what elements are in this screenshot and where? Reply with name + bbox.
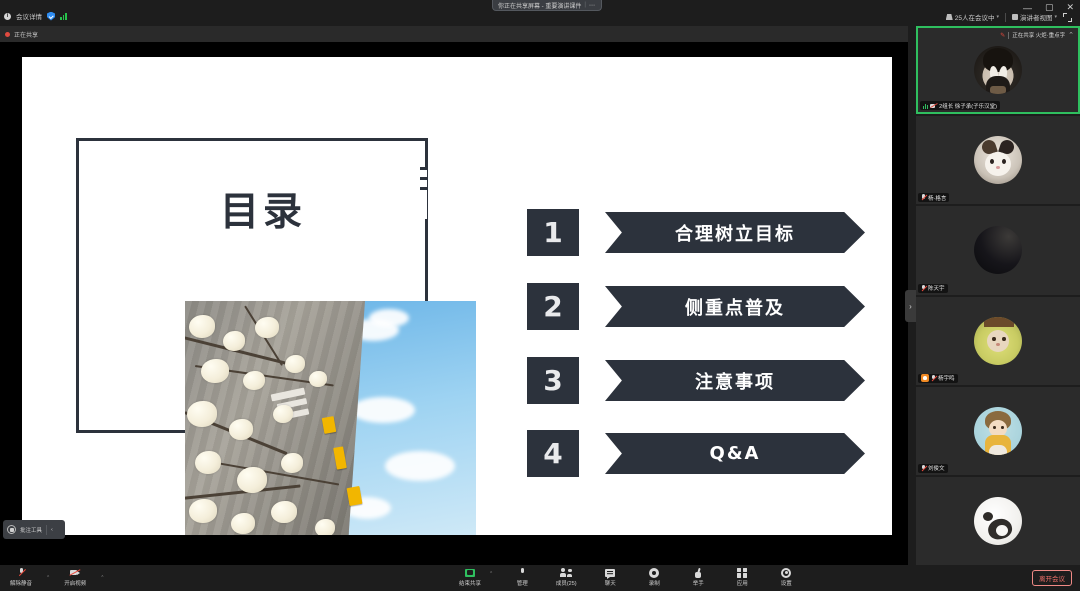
record-label: 录制 <box>649 579 660 587</box>
agenda-item: 4 Q&A <box>527 430 863 477</box>
members-label: 成员(25) <box>556 579 577 587</box>
camera-toggle-label: 开启视频 <box>64 579 86 587</box>
apps-icon <box>737 567 747 578</box>
record-button[interactable]: 录制 <box>639 567 669 587</box>
bottom-left-tools[interactable]: 解除静音 ⌃ 开启视频 ⌃ <box>6 567 104 587</box>
shared-screen-stage[interactable]: 正在共享 目录 <box>0 26 908 565</box>
agenda-label: Q&A <box>605 433 865 474</box>
share-banner-text: 你正在共享屏幕 - 重要演讲课件 <box>498 1 581 10</box>
agenda-number: 1 <box>527 209 579 256</box>
tile-annotation-bar: ✎ 正在共享 火炬·重点字 ⌃ <box>1000 31 1074 39</box>
share-options-chevron-icon[interactable]: ⌃ <box>489 571 493 577</box>
banner-divider: | <box>584 2 586 8</box>
chevron-down-icon[interactable]: ▾ <box>1054 14 1057 20</box>
participant-tile[interactable]: ✎ 正在共享 火炬·重点字 ⌃ 2组长 徐子承(子乐汉堂) <box>916 26 1080 114</box>
raise-hand-button[interactable]: 举手 <box>683 567 713 587</box>
agenda-label: 侧重点普及 <box>605 286 865 327</box>
people-icon <box>946 14 953 20</box>
view-controls-group[interactable]: 25人在会议中 ▾ 演讲者视图 ▾ <box>946 12 1072 22</box>
stop-share-label: 结束共享 <box>459 579 481 587</box>
mic-muted-icon <box>19 567 24 578</box>
meeting-info-group[interactable]: i 会议详情 <box>4 11 67 21</box>
speaking-indicator-icon <box>923 103 928 109</box>
agenda-item: 3 注意事项 <box>527 357 863 404</box>
annotate-label: 批注工具 <box>20 526 42 534</box>
camera-toggle-button[interactable]: 开启视频 <box>60 567 90 587</box>
mic-toggle-button[interactable]: 解除静音 <box>6 567 36 587</box>
leave-meeting-button[interactable]: 离开会议 <box>1032 570 1072 586</box>
settings-gear-icon <box>781 567 791 578</box>
participant-tile[interactable]: 陈天宇 <box>916 206 1080 294</box>
participant-name-badge: 陈天宇 <box>918 284 948 293</box>
apps-label: 应用 <box>737 579 748 587</box>
agenda-number: 3 <box>527 357 579 404</box>
stage-status-label: 正在共享 <box>14 30 38 39</box>
top-system-bar: 你正在共享屏幕 - 重要演讲课件 | ⋯ i 会议详情 — ▢ ✕ 25人在会议… <box>0 0 1080 26</box>
participant-name-badge: 杨宇鸣 <box>918 374 958 383</box>
chat-button[interactable]: 聊天 <box>595 567 625 587</box>
chevron-left-icon[interactable]: ‹ <box>51 527 53 533</box>
participant-name-badge: 刘俊文 <box>918 464 948 473</box>
manage-members-icon <box>520 567 525 578</box>
raise-hand-icon <box>694 567 703 578</box>
agenda-number: 4 <box>527 430 579 477</box>
participant-tile[interactable]: 杨·格言 <box>916 116 1080 204</box>
mic-toggle-label: 解除静音 <box>10 579 32 587</box>
avatar <box>974 407 1022 455</box>
record-icon <box>649 567 659 578</box>
avatar <box>974 136 1022 184</box>
participant-filmstrip[interactable]: ✎ 正在共享 火炬·重点字 ⌃ 2组长 徐子承(子乐汉堂) <box>916 26 1080 565</box>
apps-button[interactable]: 应用 <box>727 567 757 587</box>
mic-muted-icon <box>921 465 926 472</box>
layout-label: 演讲者视图 <box>1020 12 1053 22</box>
avatar <box>974 497 1022 545</box>
avatar <box>974 46 1022 94</box>
participant-tile[interactable]: 刘俊文 <box>916 387 1080 475</box>
annotate-icon[interactable] <box>7 525 16 534</box>
screen-share-icon <box>465 567 475 578</box>
agenda-label: 注意事项 <box>605 360 865 401</box>
participant-count-button[interactable]: 25人在会议中 ▾ <box>946 12 999 22</box>
stage-status-strip: 正在共享 <box>0 26 908 42</box>
pen-icon: ✎ <box>1000 32 1005 39</box>
layout-icon <box>1012 14 1018 20</box>
avatar <box>974 317 1022 365</box>
meeting-info-label: 会议详情 <box>16 11 42 21</box>
participant-name: 杨·格言 <box>928 194 946 202</box>
host-badge-icon <box>921 374 929 382</box>
filmstrip-collapse-handle[interactable]: › <box>905 290 916 322</box>
mic-muted-icon <box>921 194 926 201</box>
manage-members-button[interactable]: 管理 <box>507 567 537 587</box>
raise-hand-label: 举手 <box>693 579 704 587</box>
record-dot-icon <box>5 32 10 37</box>
annotation-toolbar[interactable]: 批注工具 ‹ <box>3 520 65 539</box>
chat-label: 聊天 <box>605 579 616 587</box>
agenda-number: 2 <box>527 283 579 330</box>
camera-muted-icon <box>70 567 80 578</box>
participant-name: 陈天宇 <box>928 284 945 292</box>
slide-title: 目录 <box>220 181 306 237</box>
bottom-toolbar[interactable]: 解除静音 ⌃ 开启视频 ⌃ 结束共享 ⌃ 管理 成员(25) <box>0 565 1080 591</box>
participant-name: 2组长 徐子承(子乐汉堂) <box>939 102 997 110</box>
participant-count-label: 25人在会议中 <box>955 12 995 22</box>
bottom-center-tools[interactable]: 结束共享 ⌃ 管理 成员(25) 聊天 录制 举手 <box>455 567 801 587</box>
signal-bars-icon[interactable] <box>60 12 67 20</box>
manage-label: 管理 <box>517 579 528 587</box>
toolbar-divider <box>1005 13 1006 22</box>
fullscreen-icon[interactable] <box>1063 13 1072 22</box>
frame-notch-decoration <box>420 167 427 219</box>
tile-annotation-text: 正在共享 火炬·重点字 <box>1012 31 1065 39</box>
members-button[interactable]: 成员(25) <box>551 567 581 587</box>
layout-button[interactable]: 演讲者视图 ▾ <box>1012 12 1057 22</box>
members-icon <box>561 567 572 578</box>
shield-icon[interactable] <box>47 12 55 21</box>
chevron-down-icon[interactable]: ▾ <box>996 14 999 20</box>
settings-label: 设置 <box>781 579 792 587</box>
participant-name: 杨宇鸣 <box>938 374 955 382</box>
participant-name: 刘俊文 <box>928 464 945 472</box>
presentation-slide: 目录 <box>22 57 892 535</box>
agenda-label: 合理树立目标 <box>605 212 865 253</box>
info-icon[interactable]: i <box>4 13 11 20</box>
annotate-divider <box>46 525 47 535</box>
agenda-item: 2 侧重点普及 <box>527 283 863 330</box>
minimize-button[interactable]: — <box>1023 3 1032 13</box>
participant-tile[interactable] <box>916 477 1080 565</box>
agenda-item: 1 合理树立目标 <box>527 209 863 256</box>
camera-options-chevron-icon[interactable]: ⌃ <box>100 575 104 581</box>
avatar <box>974 226 1022 274</box>
chevron-up-icon[interactable]: ⌃ <box>1068 31 1074 39</box>
mic-muted-icon <box>921 285 926 292</box>
slide-photo <box>185 301 476 535</box>
tile-divider <box>1008 32 1009 39</box>
settings-button[interactable]: 设置 <box>771 567 801 587</box>
more-horizontal-icon[interactable]: ⋯ <box>589 2 596 9</box>
participant-name-badge: 2组长 徐子承(子乐汉堂) <box>920 101 1000 110</box>
participant-tile[interactable]: 杨宇鸣 <box>916 297 1080 385</box>
mic-muted-icon <box>931 375 936 382</box>
camera-muted-icon <box>930 103 937 108</box>
chevron-right-icon: › <box>909 302 912 311</box>
participant-name-badge: 杨·格言 <box>918 193 949 202</box>
screen-share-banner[interactable]: 你正在共享屏幕 - 重要演讲课件 | ⋯ <box>492 0 602 11</box>
chat-icon <box>605 567 615 578</box>
stop-share-button[interactable]: 结束共享 <box>455 567 485 587</box>
mic-options-chevron-icon[interactable]: ⌃ <box>46 575 50 581</box>
